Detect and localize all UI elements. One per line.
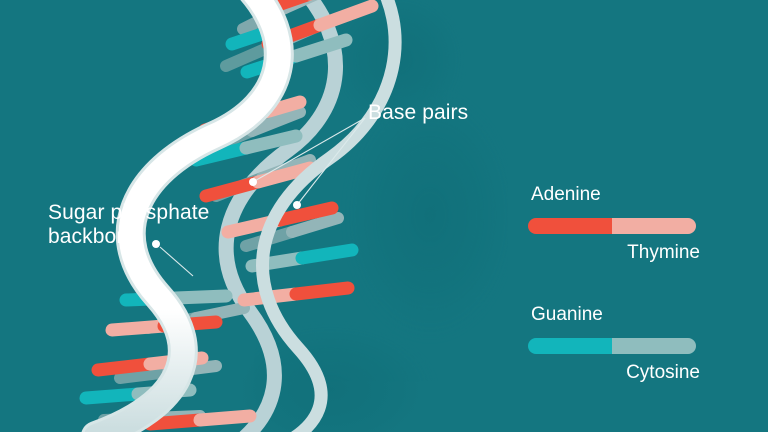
label-base-pairs: Base pairs — [368, 101, 468, 125]
dot-base-pair-a — [249, 178, 257, 186]
legend-swatch-adenine — [528, 218, 612, 234]
legend-label-guanine: Guanine — [531, 304, 603, 326]
legend-label-cytosine: Cytosine — [626, 362, 700, 384]
dot-base-pair-b — [293, 201, 301, 209]
label-sugar-phosphate-backbone: Sugar phosphatebackbone — [48, 201, 209, 250]
base-pair-legend: Adenine Thymine Guanine Cytosine — [528, 184, 700, 384]
legend-bar-adenine-thymine — [528, 218, 696, 234]
dna-illustration-canvas: Base pairs Sugar phosphatebackbone Adeni… — [0, 0, 768, 432]
legend-swatch-guanine — [528, 338, 612, 354]
backbone-label-line-1: Sugar phosphate — [48, 201, 209, 224]
legend-label-thymine: Thymine — [627, 242, 700, 264]
legend-swatch-cytosine — [612, 338, 696, 354]
legend-label-adenine: Adenine — [531, 184, 601, 206]
legend-swatch-thymine — [612, 218, 696, 234]
backbone-label-line-2: backbone — [48, 225, 140, 248]
legend-bar-guanine-cytosine — [528, 338, 696, 354]
